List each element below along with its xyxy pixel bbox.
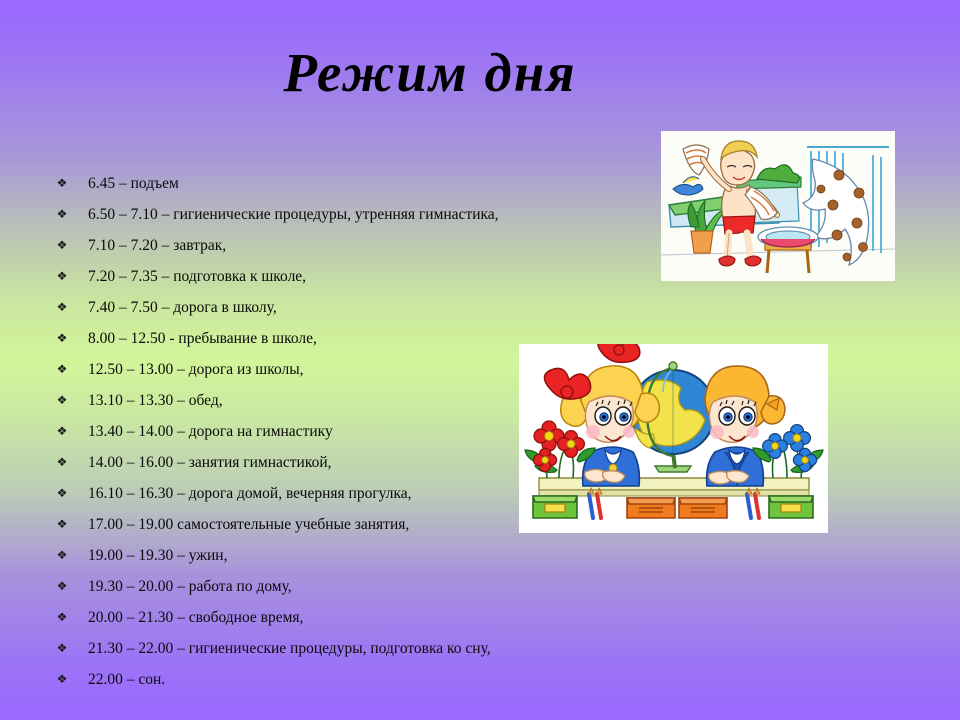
list-item: ❖ 13.40 – 14.00 – дорога на гимнастику bbox=[52, 416, 652, 447]
diamond-bullet-icon: ❖ bbox=[56, 323, 68, 354]
list-item: ❖ 21.30 – 22.00 – гигиенические процедур… bbox=[52, 633, 652, 664]
schedule-entry-text: 19.30 – 20.00 – работа по дому, bbox=[88, 571, 292, 602]
slide-canvas: Режим дня bbox=[0, 0, 960, 720]
schedule-entry-text: 7.40 – 7.50 – дорога в школу, bbox=[88, 292, 277, 323]
schedule-entry-text: 8.00 – 12.50 - пребывание в школе, bbox=[88, 323, 317, 354]
diamond-bullet-icon: ❖ bbox=[56, 602, 68, 633]
diamond-bullet-icon: ❖ bbox=[56, 509, 68, 540]
diamond-bullet-icon: ❖ bbox=[56, 416, 68, 447]
schedule-entry-text: 17.00 – 19.00 самостоятельные учебные за… bbox=[88, 509, 409, 540]
schedule-entry-text: 7.10 – 7.20 – завтрак, bbox=[88, 230, 226, 261]
schedule-entry-text: 21.30 – 22.00 – гигиенические процедуры,… bbox=[88, 633, 491, 664]
schedule-entry-text: 13.40 – 14.00 – дорога на гимнастику bbox=[88, 416, 333, 447]
list-item: ❖ 13.10 – 13.30 – обед, bbox=[52, 385, 652, 416]
page-title: Режим дня bbox=[0, 42, 960, 104]
list-item: ❖ 7.20 – 7.35 – подготовка к школе, bbox=[52, 261, 652, 292]
schedule-entry-text: 13.10 – 13.30 – обед, bbox=[88, 385, 223, 416]
schedule-entry-text: 12.50 – 13.00 – дорога из школы, bbox=[88, 354, 304, 385]
diamond-bullet-icon: ❖ bbox=[56, 261, 68, 292]
list-item: ❖ 8.00 – 12.50 - пребывание в школе, bbox=[52, 323, 652, 354]
image-boy-drying-with-towel bbox=[661, 131, 895, 281]
boy-drying-with-towel-illustration bbox=[661, 131, 895, 281]
list-item: ❖ 20.00 – 21.30 – свободное время, bbox=[52, 602, 652, 633]
diamond-bullet-icon: ❖ bbox=[56, 354, 68, 385]
schedule-entry-text: 20.00 – 21.30 – свободное время, bbox=[88, 602, 303, 633]
diamond-bullet-icon: ❖ bbox=[56, 664, 68, 695]
list-item: ❖ 17.00 – 19.00 самостоятельные учебные … bbox=[52, 509, 652, 540]
schedule-entry-text: 16.10 – 16.30 – дорога домой, вечерняя п… bbox=[88, 478, 412, 509]
diamond-bullet-icon: ❖ bbox=[56, 571, 68, 602]
list-item: ❖ 12.50 – 13.00 – дорога из школы, bbox=[52, 354, 652, 385]
list-item: ❖ 16.10 – 16.30 – дорога домой, вечерняя… bbox=[52, 478, 652, 509]
list-item: ❖ 7.40 – 7.50 – дорога в школу, bbox=[52, 292, 652, 323]
diamond-bullet-icon: ❖ bbox=[56, 540, 68, 571]
list-item: ❖ 7.10 – 7.20 – завтрак, bbox=[52, 230, 652, 261]
schedule-entry-text: 22.00 – сон. bbox=[88, 664, 165, 695]
list-item: ❖ 6.45 – подъем bbox=[52, 168, 652, 199]
schedule-list: ❖ 6.45 – подъем ❖ 6.50 – 7.10 – гигиенич… bbox=[52, 168, 652, 695]
list-item: ❖ 14.00 – 16.00 – занятия гимнастикой, bbox=[52, 447, 652, 478]
diamond-bullet-icon: ❖ bbox=[56, 292, 68, 323]
schedule-entry-text: 19.00 – 19.30 – ужин, bbox=[88, 540, 227, 571]
diamond-bullet-icon: ❖ bbox=[56, 478, 68, 509]
diamond-bullet-icon: ❖ bbox=[56, 199, 68, 230]
schedule-entry-text: 7.20 – 7.35 – подготовка к школе, bbox=[88, 261, 306, 292]
list-item: ❖ 19.30 – 20.00 – работа по дому, bbox=[52, 571, 652, 602]
diamond-bullet-icon: ❖ bbox=[56, 385, 68, 416]
diamond-bullet-icon: ❖ bbox=[56, 168, 68, 199]
schedule-entry-text: 14.00 – 16.00 – занятия гимнастикой, bbox=[88, 447, 332, 478]
schedule-entry-text: 6.45 – подъем bbox=[88, 168, 179, 199]
diamond-bullet-icon: ❖ bbox=[56, 447, 68, 478]
list-item: ❖ 19.00 – 19.30 – ужин, bbox=[52, 540, 652, 571]
list-item: ❖ 6.50 – 7.10 – гигиенические процедуры,… bbox=[52, 199, 652, 230]
diamond-bullet-icon: ❖ bbox=[56, 633, 68, 664]
list-item: ❖ 22.00 – сон. bbox=[52, 664, 652, 695]
schedule-entry-text: 6.50 – 7.10 – гигиенические процедуры, у… bbox=[88, 199, 499, 230]
diamond-bullet-icon: ❖ bbox=[56, 230, 68, 261]
